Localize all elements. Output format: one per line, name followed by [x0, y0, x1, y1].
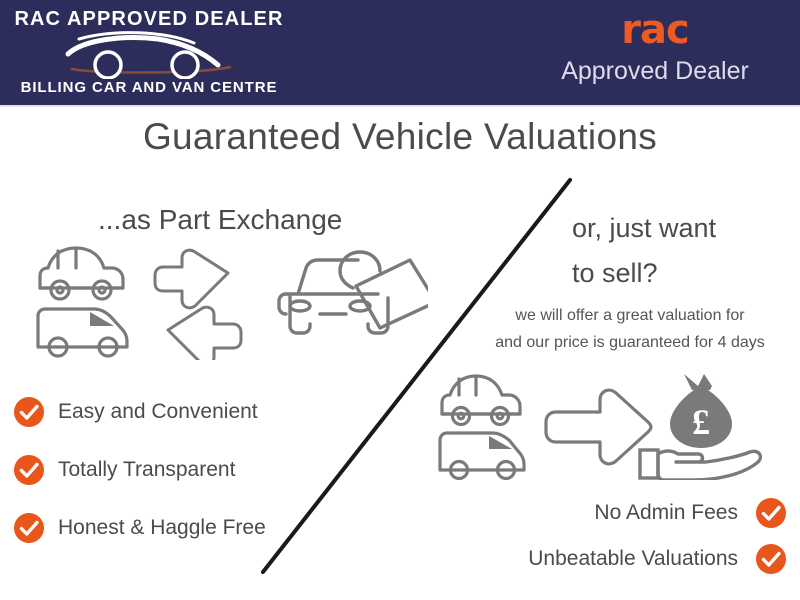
car-silhouette-icon	[54, 29, 244, 79]
money-bag-on-hand-icon: £	[640, 374, 760, 480]
check-circle-icon	[14, 513, 44, 543]
arrow-left-icon	[155, 250, 228, 308]
list-item-label: No Admin Fees	[594, 501, 738, 525]
header-divider-rule	[0, 105, 800, 107]
right-panel-subtext-line2: and our price is guaranteed for 4 days	[470, 329, 790, 356]
dealer-logo-top-text: RAC APPROVED DEALER	[14, 8, 284, 31]
right-panel-heading: or, just want to sell?	[572, 206, 792, 296]
car-side-icon	[40, 248, 123, 299]
dealer-logo-bottom-text: BILLING CAR AND VAN CENTRE	[14, 79, 284, 96]
list-item: No Admin Fees	[450, 490, 786, 536]
car-side-icon	[442, 376, 520, 425]
right-panel-heading-line2: to sell?	[572, 251, 792, 296]
check-circle-icon	[14, 455, 44, 485]
car-front-price-tag-icon	[279, 252, 428, 333]
right-panel-subtext: we will offer a great valuation for and …	[470, 302, 790, 356]
list-item: Easy and Convenient	[14, 383, 314, 441]
left-panel-heading: ...as Part Exchange	[98, 204, 342, 236]
arrow-right-icon	[168, 307, 241, 360]
header-bar: RAC APPROVED DEALER BILLING CAR AND VAN …	[0, 0, 800, 105]
list-item-label: Easy and Convenient	[58, 400, 258, 424]
van-side-icon	[38, 309, 127, 356]
rac-approved-dealer-text: Approved Dealer	[530, 56, 780, 86]
arrow-right-icon	[546, 390, 651, 464]
page-title: Guaranteed Vehicle Valuations	[0, 116, 800, 158]
check-circle-icon	[756, 498, 786, 528]
right-panel-subtext-line1: we will offer a great valuation for	[470, 302, 790, 329]
sell-illustration: £	[432, 370, 772, 480]
rac-logo: rac Approved Dealer	[530, 8, 780, 100]
right-benefits-list: No Admin Fees Unbeatable Valuations	[450, 490, 786, 582]
list-item-label: Unbeatable Valuations	[528, 547, 738, 571]
van-side-icon	[440, 433, 524, 479]
list-item: Honest & Haggle Free	[14, 499, 314, 557]
list-item-label: Totally Transparent	[58, 458, 235, 482]
right-panel-heading-line1: or, just want	[572, 206, 792, 251]
currency-symbol: £	[692, 402, 710, 442]
rac-wordmark: rac	[530, 8, 780, 52]
left-benefits-list: Easy and Convenient Totally Transparent …	[14, 383, 314, 557]
check-circle-icon	[14, 397, 44, 427]
part-exchange-illustration	[28, 240, 428, 360]
list-item-label: Honest & Haggle Free	[58, 516, 266, 540]
poster-canvas: RAC APPROVED DEALER BILLING CAR AND VAN …	[0, 0, 800, 600]
check-circle-icon	[756, 544, 786, 574]
dealer-logo: RAC APPROVED DEALER BILLING CAR AND VAN …	[14, 6, 284, 101]
list-item: Unbeatable Valuations	[450, 536, 786, 582]
list-item: Totally Transparent	[14, 441, 314, 499]
